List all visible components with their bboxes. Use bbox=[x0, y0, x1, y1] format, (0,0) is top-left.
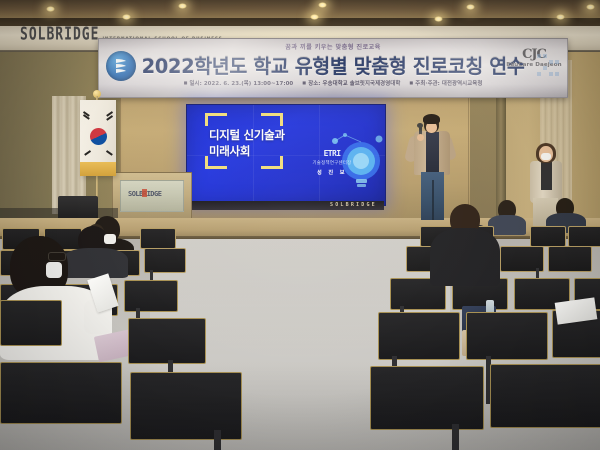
lectern-logo-accent bbox=[142, 189, 147, 197]
ceiling-light-icon bbox=[318, 2, 327, 8]
presenter-shirt bbox=[426, 132, 439, 174]
chair-leg bbox=[214, 430, 221, 450]
chair-tablet-arm bbox=[370, 366, 484, 430]
slide-title-line1: 디지털 신기술과 bbox=[209, 127, 329, 143]
presenter-hand bbox=[417, 134, 424, 141]
flag-lower-band bbox=[80, 162, 116, 176]
banner-sheen bbox=[99, 39, 567, 97]
staff-top bbox=[541, 162, 552, 190]
chair-tablet-arm bbox=[0, 300, 62, 346]
chair-leg bbox=[452, 424, 459, 450]
lectern-logo-text: SOLBRIDGE bbox=[128, 190, 176, 198]
etri-logo-text: ETRI bbox=[299, 149, 365, 158]
chair-tablet-arm bbox=[130, 372, 242, 440]
presenter-name-text: 성 진 보 bbox=[299, 169, 365, 176]
chair-tablet-arm bbox=[128, 318, 206, 364]
ceiling-light-icon bbox=[586, 4, 595, 10]
ceiling-light-icon bbox=[122, 14, 131, 20]
korean-national-flag bbox=[80, 100, 116, 176]
presenter-hair bbox=[423, 114, 440, 124]
stage-monitor-speaker bbox=[58, 196, 98, 220]
ceiling-light-icon bbox=[466, 4, 475, 10]
etri-department-text: 기술정책연구센터장 bbox=[299, 160, 365, 166]
chair-back bbox=[140, 228, 176, 249]
seminar-photo: SOLBRIDGE INTERNATIONAL SCHOOL OF BUSINE… bbox=[0, 0, 600, 450]
chair-back bbox=[548, 246, 592, 272]
audience-face-mask-icon bbox=[104, 234, 116, 244]
chair-back bbox=[568, 226, 600, 247]
chair-tablet-arm bbox=[0, 362, 122, 424]
presenter-leg-gap bbox=[432, 180, 434, 220]
wall-sign-main-text: SOLBRIDGE bbox=[20, 25, 99, 45]
audience-shoulders bbox=[62, 248, 128, 278]
taeguk-symbol-icon bbox=[87, 125, 110, 148]
microphone-head-icon bbox=[417, 123, 423, 128]
ceiling-light-icon bbox=[310, 14, 319, 20]
chair-tablet-arm bbox=[490, 364, 600, 428]
chair-tablet-arm bbox=[378, 312, 460, 360]
ceiling-light-icon bbox=[178, 3, 187, 9]
chair-tablet-arm bbox=[124, 280, 178, 312]
audience-shoulders bbox=[430, 228, 500, 286]
face-mask-icon bbox=[541, 153, 551, 160]
ceiling-light-icon bbox=[434, 16, 443, 22]
ceiling-light-icon bbox=[46, 6, 55, 12]
etri-branding: ETRI 기술정책연구센터장 성 진 보 bbox=[299, 149, 365, 176]
event-banner: 꿈과 끼를 키우는 맞춤형 진로교육 2022학년도 학교 유형별 맞춤형 진로… bbox=[98, 38, 568, 98]
projection-screen: 디지털 신기술과 미래사회 ETRI 기술정책연구센터장 성 진 보 bbox=[186, 104, 386, 206]
ceiling-light-icon bbox=[556, 14, 565, 20]
audience-glasses-icon bbox=[48, 252, 66, 261]
audience-face-mask-icon bbox=[46, 262, 62, 278]
chair-back bbox=[530, 226, 566, 247]
stage-solbridge-text: SOLBRIDGE bbox=[330, 202, 384, 209]
chair-tablet-arm bbox=[466, 312, 548, 360]
